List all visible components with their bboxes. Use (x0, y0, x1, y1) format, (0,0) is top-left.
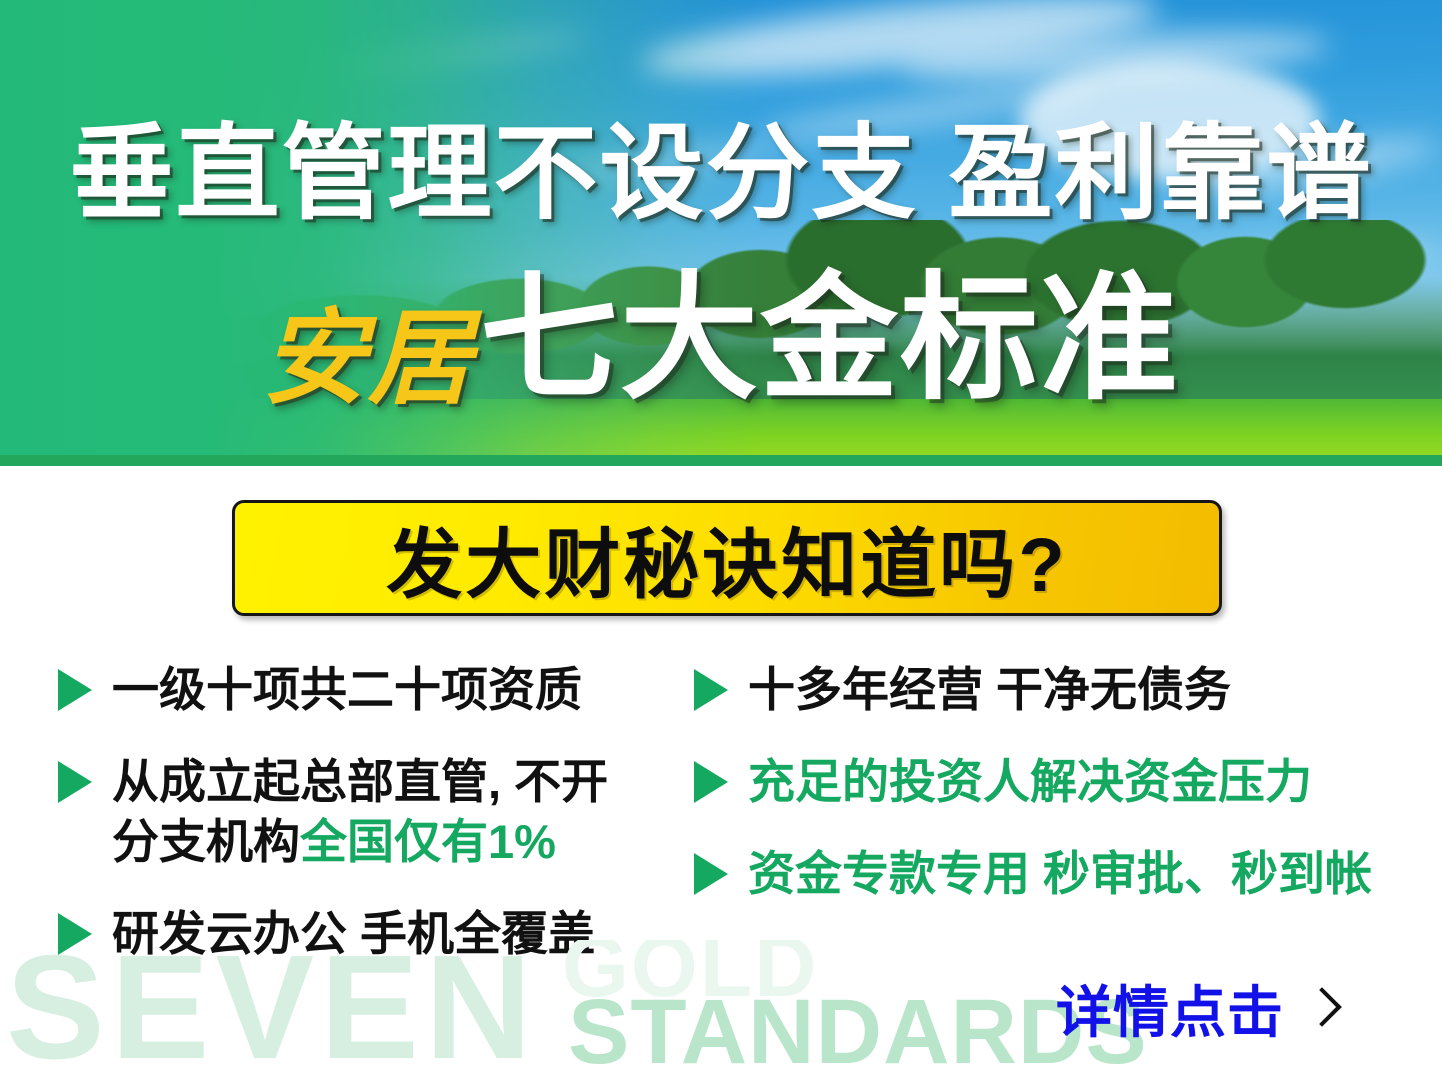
list-item: 充足的投资人解决资金压力 (694, 752, 1414, 812)
list-item: 一级十项共二十项资质 (58, 660, 678, 720)
chevron-right-icon (1306, 986, 1332, 1032)
feature-label-plain: 分支机构 (112, 815, 300, 868)
triangle-bullet-icon (58, 669, 92, 711)
highlight-banner-label: 发大财秘诀知道吗? (386, 503, 1067, 613)
triangle-bullet-icon (58, 913, 92, 955)
triangle-bullet-icon (694, 853, 728, 895)
details-cta-label: 详情点击 (1056, 968, 1284, 1049)
highlight-banner[interactable]: 发大财秘诀知道吗? (232, 500, 1222, 616)
hero-section: 垂直管理不设分支 盈利靠谱 安居七大金标准 (0, 0, 1442, 466)
triangle-bullet-icon (694, 761, 728, 803)
feature-label-line2: 分支机构全国仅有1% (112, 812, 608, 872)
feature-label: 从成立起总部直管, 不开分支机构全国仅有1% (112, 752, 608, 872)
hero-headline-main: 七大金标准 (480, 262, 1180, 416)
list-item: 十多年经营 干净无债务 (694, 660, 1414, 720)
list-item: 资金专款专用 秒审批、秒到帐 (694, 844, 1414, 904)
feature-list: 一级十项共二十项资质 从成立起总部直管, 不开分支机构全国仅有1% 研发云办公 … (0, 660, 1442, 990)
list-item: 从成立起总部直管, 不开分支机构全国仅有1% (58, 752, 678, 872)
feature-label: 充足的投资人解决资金压力 (748, 752, 1312, 812)
feature-label: 一级十项共二十项资质 (112, 660, 582, 720)
list-item: 研发云办公 手机全覆盖 (58, 904, 678, 964)
hero-headline-secondary: 安居七大金标准 (0, 274, 1442, 447)
advertisement-banner: 垂直管理不设分支 盈利靠谱 安居七大金标准 发大财秘诀知道吗? 一级十项共二十项… (0, 0, 1442, 1066)
hero-bottom-bar (0, 455, 1442, 466)
brand-name: 安居 (262, 301, 474, 417)
hero-headline-primary: 垂直管理不设分支 盈利靠谱 (0, 118, 1442, 230)
feature-label-line1: 从成立起总部直管, 不开 (112, 755, 608, 808)
details-cta-button[interactable]: 详情点击 (1056, 968, 1332, 1049)
feature-column-right: 十多年经营 干净无债务 充足的投资人解决资金压力 资金专款专用 秒审批、秒到帐 (694, 660, 1414, 936)
feature-column-left: 一级十项共二十项资质 从成立起总部直管, 不开分支机构全国仅有1% 研发云办公 … (58, 660, 678, 996)
feature-label-highlight: 全国仅有1% (300, 815, 556, 868)
triangle-bullet-icon (694, 669, 728, 711)
feature-label: 研发云办公 手机全覆盖 (112, 904, 595, 964)
feature-label: 资金专款专用 秒审批、秒到帐 (748, 844, 1372, 904)
triangle-bullet-icon (58, 761, 92, 803)
feature-label: 十多年经营 干净无债务 (748, 660, 1231, 720)
